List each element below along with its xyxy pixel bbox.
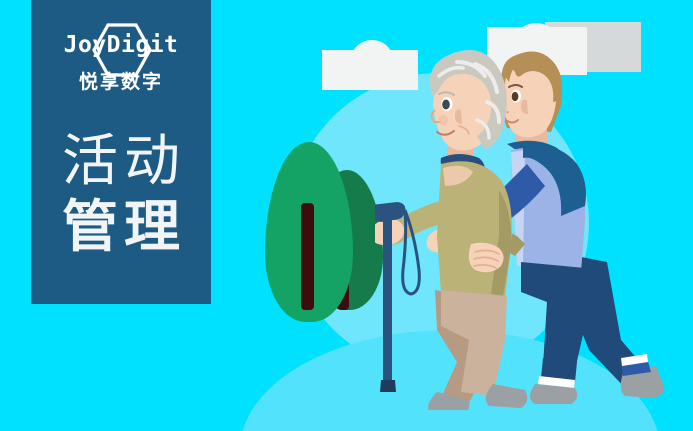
page-title: 活动 管理	[56, 128, 186, 260]
logo-chinese-name: 悦享数字	[79, 73, 163, 92]
logo-wordmark: JoyDigit	[64, 34, 179, 57]
page-title-line-1: 活动	[56, 128, 186, 194]
tree-front-trunk	[301, 203, 314, 310]
activity-management-banner: JoyDigit 悦享数字 活动 管理	[0, 0, 693, 431]
people-illustration	[375, 40, 685, 410]
page-title-line-2: 管理	[56, 194, 186, 260]
info-panel: JoyDigit 悦享数字 活动 管理	[31, 0, 211, 304]
elderly-woman-figure	[375, 50, 527, 410]
brand-logo: JoyDigit 悦享数字	[46, 20, 196, 110]
